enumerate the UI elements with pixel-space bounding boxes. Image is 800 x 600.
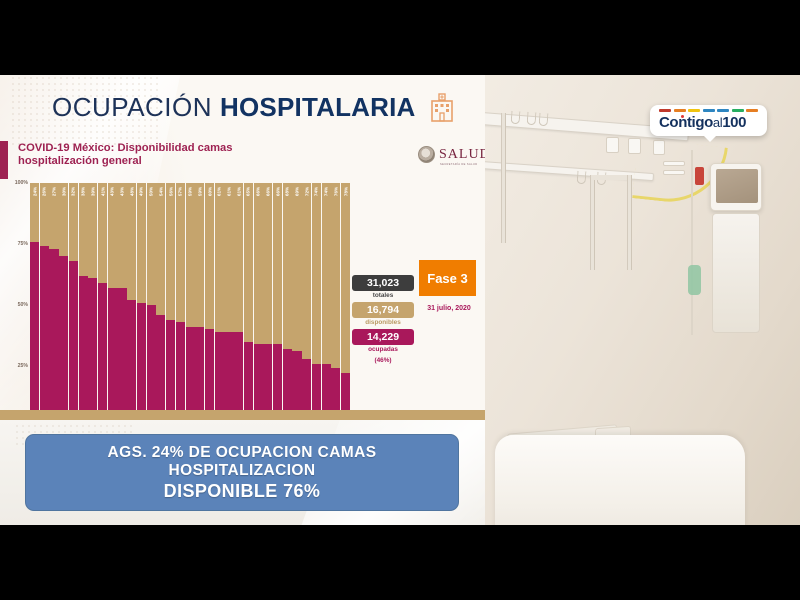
y-axis-tick: 75% bbox=[18, 241, 28, 247]
bar-segment-ocupacion: 68% bbox=[69, 261, 78, 420]
bar-segment-disponibilidad: 61% bbox=[234, 183, 243, 332]
table-row: 61%39% bbox=[234, 183, 243, 420]
bar-segment-ocupacion: 34% bbox=[273, 344, 282, 420]
bar-segment-ocupacion: 40% bbox=[205, 329, 214, 420]
bar-label-disponibilidad: 61% bbox=[226, 187, 231, 196]
lower-third-banner: AGS. 24% DE OCUPACION CAMAS HOSPITALIZAC… bbox=[0, 420, 485, 525]
table-row: 59%41% bbox=[195, 183, 204, 420]
table-row: 60%40% bbox=[205, 183, 214, 420]
chart-subtitle: COVID-19 México: Disponibilidad camas ho… bbox=[18, 142, 308, 168]
oxygen-outlet bbox=[606, 137, 619, 153]
bar-label-disponibilidad: 39% bbox=[90, 187, 95, 196]
bar-segment-disponibilidad: 78% bbox=[341, 183, 350, 373]
bar-segment-disponibilidad: 27% bbox=[49, 183, 58, 249]
bar-segment-disponibilidad: 50% bbox=[147, 183, 156, 305]
bar-segment-ocupacion: 44% bbox=[166, 320, 175, 420]
table-row: 41%59% bbox=[98, 183, 107, 420]
bar-segment-disponibilidad: 43% bbox=[117, 183, 126, 288]
bar-label-disponibilidad: 59% bbox=[197, 187, 202, 196]
salud-wordmark: SALUD bbox=[439, 147, 485, 163]
banner-line-3: DISPONIBLE 76% bbox=[164, 481, 321, 502]
available-beds-value: 16,794 bbox=[352, 302, 414, 318]
wall-pipe-right bbox=[627, 175, 632, 270]
monitor-screen bbox=[716, 169, 758, 203]
bar-segment-disponibilidad: 65% bbox=[244, 183, 253, 342]
hospital-room-video: Contigoal100 bbox=[485, 75, 800, 525]
wall-pipe-mid bbox=[590, 175, 595, 270]
bar-segment-disponibilidad: 56% bbox=[166, 183, 175, 320]
logo-text-contigo: Contigo bbox=[659, 114, 713, 131]
bar-segment-ocupacion: 61% bbox=[88, 278, 97, 420]
logo-dashes bbox=[659, 109, 758, 112]
slide-subtitle-bar: COVID-19 México: Disponibilidad camas ho… bbox=[0, 141, 485, 181]
bar-segment-ocupacion: 41% bbox=[195, 327, 204, 420]
bar-label-disponibilidad: 60% bbox=[207, 187, 212, 196]
logo-dash bbox=[732, 109, 744, 112]
y-axis-tick: 25% bbox=[18, 363, 28, 369]
bar-label-disponibilidad: 61% bbox=[217, 187, 222, 196]
table-row: 61%39% bbox=[224, 183, 233, 420]
available-beds-label: disponibles bbox=[352, 319, 414, 326]
wall-pipe-left bbox=[501, 113, 506, 243]
bar-segment-ocupacion: 62% bbox=[79, 276, 88, 420]
bar-segment-disponibilidad: 60% bbox=[205, 183, 214, 329]
bar-label-disponibilidad: 56% bbox=[168, 187, 173, 196]
table-row: 61%39% bbox=[215, 183, 224, 420]
logo-dash bbox=[674, 109, 686, 112]
table-row: 65%35% bbox=[244, 183, 253, 420]
bar-segment-disponibilidad: 39% bbox=[88, 183, 97, 278]
table-row: 32%68% bbox=[69, 183, 78, 420]
bar-segment-ocupacion: 51% bbox=[137, 303, 146, 420]
slide-title-bold: HOSPITALARIA bbox=[220, 92, 415, 123]
bar-segment-disponibilidad: 43% bbox=[108, 183, 117, 288]
table-row: 43%57% bbox=[108, 183, 117, 420]
bar-label-disponibilidad: 49% bbox=[139, 187, 144, 196]
bar-segment-ocupacion: 34% bbox=[254, 344, 263, 420]
bar-segment-ocupacion: 34% bbox=[263, 344, 272, 420]
table-row: 68%32% bbox=[283, 183, 292, 420]
table-row: 66%34% bbox=[263, 183, 272, 420]
bar-segment-disponibilidad: 76% bbox=[331, 183, 340, 368]
table-row: 78%22% bbox=[341, 183, 350, 420]
bar-label-disponibilidad: 74% bbox=[324, 187, 329, 196]
logo-dash bbox=[688, 109, 700, 112]
bar-segment-ocupacion: 46% bbox=[156, 315, 165, 420]
rail-hook bbox=[511, 111, 521, 125]
bar-label-disponibilidad: 66% bbox=[275, 187, 280, 196]
table-row: 72%28% bbox=[302, 183, 311, 420]
table-row: 43%57% bbox=[117, 183, 126, 420]
occupied-beds-label: ocupadas bbox=[352, 346, 414, 354]
table-row: 49%51% bbox=[137, 183, 146, 420]
bar-label-disponibilidad: 48% bbox=[129, 187, 134, 196]
logo-dash bbox=[659, 109, 671, 112]
hospital-building-icon bbox=[425, 90, 459, 124]
logo-text-100: 100 bbox=[722, 114, 746, 131]
logo-dash bbox=[717, 109, 729, 112]
bar-segment-disponibilidad: 54% bbox=[156, 183, 165, 315]
occupied-beds-percent: (46%) bbox=[352, 357, 414, 365]
y-axis: 0%25%50%75%100% bbox=[6, 183, 30, 420]
table-row: 39%61% bbox=[88, 183, 97, 420]
bar-segment-disponibilidad: 61% bbox=[215, 183, 224, 332]
logo-accent-dot bbox=[681, 115, 684, 118]
banner-line-2: HOSPITALIZACION bbox=[169, 462, 316, 480]
bar-segment-ocupacion: 43% bbox=[176, 322, 185, 420]
bar-label-disponibilidad: 72% bbox=[304, 187, 309, 196]
table-row: 76%24% bbox=[331, 183, 340, 420]
table-row: 66%34% bbox=[273, 183, 282, 420]
bar-label-disponibilidad: 66% bbox=[265, 187, 270, 196]
bar-label-disponibilidad: 41% bbox=[100, 187, 105, 196]
occupied-beds-value: 14,229 bbox=[352, 329, 414, 345]
bar-segment-ocupacion: 57% bbox=[117, 288, 126, 420]
accent-bar bbox=[0, 141, 8, 179]
bar-label-disponibilidad: 66% bbox=[256, 187, 261, 196]
table-row: 66%34% bbox=[254, 183, 263, 420]
rail-hook bbox=[527, 112, 537, 126]
table-row: 74%26% bbox=[322, 183, 331, 420]
bar-label-disponibilidad: 76% bbox=[333, 187, 338, 196]
bar-segment-disponibilidad: 66% bbox=[254, 183, 263, 344]
presentation-slide: OCUPACIÓN HOSPITALARIA COVID-19 Mé bbox=[0, 75, 485, 420]
bar-segment-disponibilidad: 59% bbox=[195, 183, 204, 327]
table-row: 27%73% bbox=[49, 183, 58, 420]
phase-badge: Fase 3 bbox=[419, 260, 476, 296]
bar-label-disponibilidad: 38% bbox=[81, 187, 86, 196]
logo-text-al: al bbox=[713, 115, 722, 130]
mexico-eagle-seal-icon bbox=[418, 146, 435, 163]
totals-panel: 31,023 totales 16,794 disponibles 14,229… bbox=[352, 275, 414, 367]
bar-label-disponibilidad: 69% bbox=[294, 187, 299, 196]
table-row: 26%74% bbox=[40, 183, 49, 420]
bar-segment-disponibilidad: 41% bbox=[98, 183, 107, 283]
report-date: 31 julio, 2020 bbox=[419, 305, 479, 312]
patient-monitor bbox=[710, 163, 762, 211]
hospital-bed bbox=[495, 435, 745, 525]
bar-label-disponibilidad: 43% bbox=[120, 187, 125, 196]
bar-segment-disponibilidad: 68% bbox=[283, 183, 292, 349]
bar-segment-disponibilidad: 59% bbox=[186, 183, 195, 327]
bar-segment-disponibilidad: 38% bbox=[79, 183, 88, 276]
bar-segment-ocupacion: 41% bbox=[186, 327, 195, 420]
table-row: 30%70% bbox=[59, 183, 68, 420]
bar-segment-disponibilidad: 24% bbox=[30, 183, 39, 242]
bar-segment-disponibilidad: 61% bbox=[224, 183, 233, 332]
ventilator-unit bbox=[712, 213, 760, 333]
bar-segment-ocupacion: 76% bbox=[30, 242, 39, 420]
contigo-al-100-logo: Contigoal100 bbox=[650, 105, 767, 136]
bar-segment-ocupacion: 59% bbox=[98, 283, 107, 420]
table-row: 74%26% bbox=[312, 183, 321, 420]
stacked-bar-chart: 0%25%50%75%100% 24%76%26%74%27%73%30%70%… bbox=[6, 183, 350, 420]
bar-label-disponibilidad: 27% bbox=[52, 187, 57, 196]
bar-segment-disponibilidad: 69% bbox=[292, 183, 301, 351]
bar-segment-disponibilidad: 74% bbox=[312, 183, 321, 364]
table-row: 56%44% bbox=[166, 183, 175, 420]
bar-label-disponibilidad: 68% bbox=[285, 187, 290, 196]
bar-label-disponibilidad: 57% bbox=[178, 187, 183, 196]
banner-text-box: AGS. 24% DE OCUPACION CAMAS HOSPITALIZAC… bbox=[25, 434, 459, 511]
slide-header: OCUPACIÓN HOSPITALARIA bbox=[0, 75, 485, 139]
total-beds-label: totales bbox=[352, 292, 414, 299]
bar-segment-disponibilidad: 48% bbox=[127, 183, 136, 300]
iv-pole bbox=[691, 150, 693, 335]
bar-label-disponibilidad: 26% bbox=[42, 187, 47, 196]
slide-title-light: OCUPACIÓN bbox=[52, 92, 212, 123]
bar-label-disponibilidad: 30% bbox=[61, 187, 66, 196]
bar-segment-ocupacion: 39% bbox=[224, 332, 233, 420]
bar-segment-disponibilidad: 74% bbox=[322, 183, 331, 364]
logo-wordmark: Contigoal100 bbox=[659, 114, 758, 131]
bar-segment-disponibilidad: 32% bbox=[69, 183, 78, 261]
broadcast-frame: OCUPACIÓN HOSPITALARIA COVID-19 Mé bbox=[0, 0, 800, 600]
bar-label-disponibilidad: 61% bbox=[236, 187, 241, 196]
bar-segment-ocupacion: 35% bbox=[244, 342, 253, 420]
logo-speech-tail bbox=[703, 135, 717, 142]
slide-footer-bar bbox=[0, 410, 485, 420]
table-row: 50%50% bbox=[147, 183, 156, 420]
rail-hook bbox=[539, 113, 549, 127]
table-row: 69%31% bbox=[292, 183, 301, 420]
bar-segment-ocupacion: 52% bbox=[127, 300, 136, 420]
red-valve-icon bbox=[695, 167, 704, 185]
bar-label-disponibilidad: 74% bbox=[314, 187, 319, 196]
bar-label-disponibilidad: 78% bbox=[343, 187, 348, 196]
salud-subtext: SECRETARÍA DE SALUD bbox=[440, 163, 478, 166]
bar-segment-ocupacion: 39% bbox=[215, 332, 224, 420]
bar-segment-ocupacion: 50% bbox=[147, 305, 156, 420]
table-row: 24%76% bbox=[30, 183, 39, 420]
bar-segment-disponibilidad: 57% bbox=[176, 183, 185, 322]
bar-segment-ocupacion: 57% bbox=[108, 288, 117, 420]
bar-segment-ocupacion: 39% bbox=[234, 332, 243, 420]
bar-label-disponibilidad: 50% bbox=[149, 187, 154, 196]
total-beds-value: 31,023 bbox=[352, 275, 414, 291]
bar-label-disponibilidad: 32% bbox=[71, 187, 76, 196]
bar-segment-disponibilidad: 49% bbox=[137, 183, 146, 303]
bar-segment-ocupacion: 70% bbox=[59, 256, 68, 420]
table-row: 38%62% bbox=[79, 183, 88, 420]
y-axis-tick: 100% bbox=[15, 180, 28, 186]
table-row: 48%52% bbox=[127, 183, 136, 420]
wall-pipe-mid-horizontal bbox=[590, 175, 632, 180]
bar-segment-disponibilidad: 26% bbox=[40, 183, 49, 246]
bar-segment-disponibilidad: 66% bbox=[273, 183, 282, 344]
green-resuscitation-bag bbox=[688, 265, 701, 295]
table-row: 54%46% bbox=[156, 183, 165, 420]
bar-segment-disponibilidad: 30% bbox=[59, 183, 68, 256]
bar-label-disponibilidad: 24% bbox=[32, 187, 37, 196]
chart-plot-area: 24%76%26%74%27%73%30%70%32%68%38%62%39%6… bbox=[30, 183, 350, 420]
banner-line-1: AGS. 24% DE OCUPACION CAMAS bbox=[108, 444, 377, 462]
bar-segment-disponibilidad: 72% bbox=[302, 183, 311, 359]
logo-dash bbox=[746, 109, 758, 112]
bar-segment-ocupacion: 73% bbox=[49, 249, 58, 420]
bar-label-disponibilidad: 54% bbox=[158, 187, 163, 196]
logo-dash bbox=[703, 109, 715, 112]
table-row: 57%43% bbox=[176, 183, 185, 420]
bar-segment-disponibilidad: 66% bbox=[263, 183, 272, 344]
salud-logo: SALUD bbox=[418, 146, 485, 163]
table-row: 59%41% bbox=[186, 183, 195, 420]
bar-segment-ocupacion: 74% bbox=[40, 246, 49, 420]
bar-label-disponibilidad: 59% bbox=[188, 187, 193, 196]
rail-hook bbox=[577, 171, 587, 185]
bar-label-disponibilidad: 43% bbox=[110, 187, 115, 196]
y-axis-tick: 50% bbox=[18, 302, 28, 308]
bar-label-disponibilidad: 65% bbox=[246, 187, 251, 196]
